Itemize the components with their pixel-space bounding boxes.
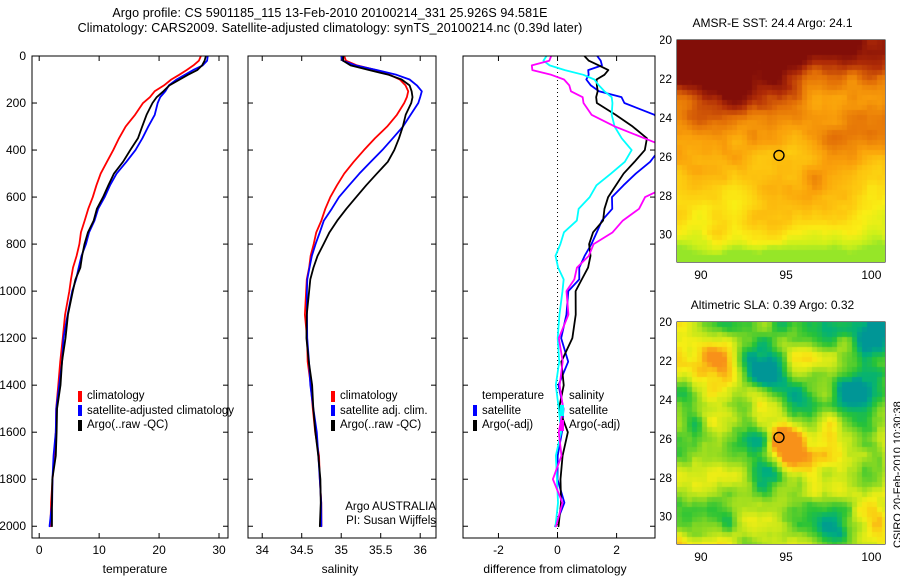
legend-swatch bbox=[78, 405, 82, 416]
credit-pi: PI: Susan Wijffels bbox=[240, 514, 436, 528]
legend-label: satellite bbox=[569, 404, 608, 419]
legend-header-salinity: salinity bbox=[560, 389, 620, 404]
y-tick-label: 2000 bbox=[0, 519, 26, 533]
legend-swatch bbox=[331, 391, 335, 402]
legend-swatch bbox=[78, 391, 82, 402]
credit-org: Argo AUSTRALIA bbox=[240, 500, 436, 514]
legend-swatch bbox=[331, 420, 335, 431]
legend-label: climatology bbox=[87, 389, 145, 404]
x-tick-label: 30 bbox=[212, 543, 226, 557]
temperature-legend: climatologysatellite-adjusted climatolog… bbox=[78, 389, 234, 433]
legend-swatch bbox=[473, 420, 477, 431]
y-tick-label: 0 bbox=[19, 49, 26, 63]
legend-label: Argo(-adj) bbox=[482, 418, 533, 433]
profile-location-marker bbox=[774, 150, 784, 160]
legend-label: satellite adj. clim. bbox=[340, 404, 428, 419]
salinity-legend: climatologysatellite adj. clim.Argo(..ra… bbox=[331, 389, 428, 433]
profile-location-marker bbox=[774, 432, 784, 442]
panel-sst-map: AMSR-E SST: 24.4 Argo: 24.1 9095100-20-2… bbox=[660, 16, 900, 296]
x-tick-label: 34 bbox=[256, 543, 270, 557]
x-tick-label: 0 bbox=[554, 543, 561, 557]
legend-item: Argo(..raw -QC) bbox=[331, 418, 428, 433]
y-tick-label: 200 bbox=[6, 96, 26, 110]
legend-item: climatology bbox=[331, 389, 428, 404]
legend-header-temperature: temperature bbox=[473, 389, 544, 404]
legend-item: Argo(-adj) bbox=[560, 418, 620, 433]
legend-item: Argo(..raw -QC) bbox=[78, 418, 234, 433]
x-tick-label: 10 bbox=[92, 543, 106, 557]
panel-sla-map: Altimetric SLA: 0.39 Argo: 0.32 9095100-… bbox=[660, 298, 900, 578]
x-tick-label: 2 bbox=[613, 543, 620, 557]
figure-canvas: Argo profile: CS 5901185_115 13-Feb-2010… bbox=[0, 0, 900, 580]
salinity-xlabel: salinity bbox=[240, 562, 440, 576]
x-tick-label: 35.5 bbox=[369, 543, 393, 557]
legend-item: Argo(-adj) bbox=[473, 418, 544, 433]
legend-item: satellite adj. clim. bbox=[331, 404, 428, 419]
y-tick-label: 1200 bbox=[0, 331, 26, 345]
sla-map-marker-layer bbox=[660, 298, 900, 578]
legend-label: Argo(..raw -QC) bbox=[340, 418, 421, 433]
legend-swatch bbox=[78, 420, 82, 431]
plot-frame bbox=[32, 56, 228, 538]
difference-xlabel: difference from climatology bbox=[450, 562, 660, 576]
legend-swatch bbox=[560, 405, 564, 416]
y-tick-label: 1400 bbox=[0, 378, 26, 392]
difference-legend-salinity-column: salinity satelliteArgo(-adj) bbox=[560, 389, 620, 433]
legend-item: climatology bbox=[78, 389, 234, 404]
argo-credit: Argo AUSTRALIA PI: Susan Wijffels bbox=[240, 500, 436, 528]
legend-swatch bbox=[560, 420, 564, 431]
legend-item: satellite bbox=[560, 404, 620, 419]
x-tick-label: 34.5 bbox=[290, 543, 314, 557]
y-tick-label: 1800 bbox=[0, 472, 26, 486]
salinity-plot: 3434.53535.536 bbox=[240, 0, 455, 580]
plot-frame bbox=[248, 56, 436, 538]
legend-spacer bbox=[560, 391, 564, 402]
y-tick-label: 800 bbox=[6, 237, 26, 251]
temperature-xlabel: temperature bbox=[30, 562, 240, 576]
difference-legend-temperature-column: temperature satelliteArgo(-adj) bbox=[473, 389, 544, 433]
panel-salinity: 3434.53535.536 salinity climatologysatel… bbox=[240, 0, 455, 580]
legend-swatch bbox=[473, 405, 477, 416]
panel-difference: -202 difference from climatology tempera… bbox=[455, 0, 670, 580]
difference-plot: -202 bbox=[455, 0, 670, 580]
legend-swatch bbox=[331, 405, 335, 416]
legend-label: satellite-adjusted climatology bbox=[87, 404, 234, 419]
plot-frame bbox=[463, 56, 655, 538]
x-tick-label: -2 bbox=[493, 543, 504, 557]
y-tick-label: 600 bbox=[6, 190, 26, 204]
legend-label: Argo(-adj) bbox=[569, 418, 620, 433]
y-tick-label: 400 bbox=[6, 143, 26, 157]
legend-spacer bbox=[473, 391, 477, 402]
x-tick-label: 0 bbox=[36, 543, 43, 557]
legend-label: Argo(..raw -QC) bbox=[87, 418, 168, 433]
y-tick-label: 1000 bbox=[0, 284, 26, 298]
panel-temperature: 0102030020040060080010001200140016001800… bbox=[0, 0, 240, 580]
sst-map-marker-layer bbox=[660, 16, 900, 296]
legend-item: satellite-adjusted climatology bbox=[78, 404, 234, 419]
temperature-plot: 0102030020040060080010001200140016001800… bbox=[0, 0, 240, 580]
x-tick-label: 36 bbox=[414, 543, 428, 557]
legend-label: satellite bbox=[482, 404, 521, 419]
x-tick-label: 20 bbox=[152, 543, 166, 557]
csiro-timestamp: CSIRO 20-Feb-2010 10:30:38 bbox=[892, 401, 900, 548]
x-tick-label: 35 bbox=[335, 543, 349, 557]
legend-item: satellite bbox=[473, 404, 544, 419]
y-tick-label: 1600 bbox=[0, 425, 26, 439]
legend-label: climatology bbox=[340, 389, 398, 404]
difference-legend: temperature satelliteArgo(-adj) salinity… bbox=[473, 389, 673, 433]
